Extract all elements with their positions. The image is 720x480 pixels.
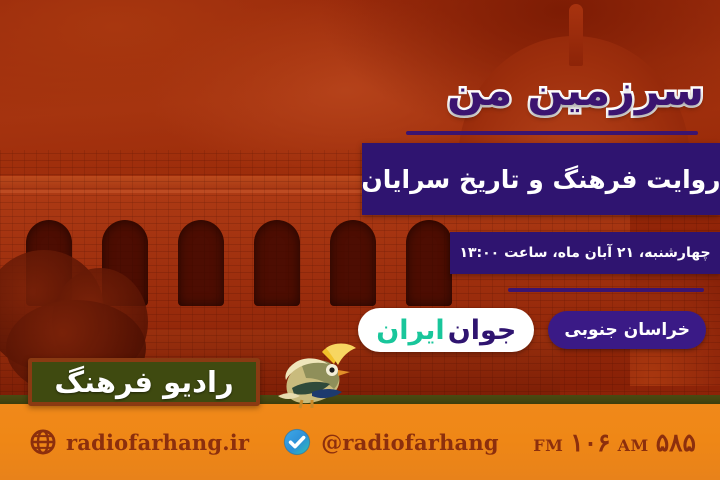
social-handle-label: @radiofarhang: [321, 430, 498, 455]
social-handle-link[interactable]: @radiofarhang: [283, 428, 498, 456]
title-underline-rule: [406, 131, 698, 135]
iran-javan-logo-part-iran: ایران: [376, 315, 445, 346]
subtitle-text: روایت فرهنگ و تاریخ سرایان: [361, 165, 720, 194]
minaret-shape: [569, 4, 583, 66]
iran-javan-logo-part-javan: جوان: [448, 315, 517, 346]
frequency-info: FM ۱۰۶ AM ۵۸۵: [533, 428, 696, 457]
website-label: radiofarhang.ir: [66, 430, 249, 455]
province-badge: خراسان جنوبی: [548, 311, 706, 349]
subtitle-band: روایت فرهنگ و تاریخ سرایان: [362, 143, 720, 215]
province-badge-label: خراسان جنوبی: [564, 320, 690, 340]
website-link[interactable]: radiofarhang.ir: [30, 429, 249, 455]
radio-farhang-logo-label: رادیو فرهنگ: [54, 365, 233, 399]
am-value: ۵۸۵: [656, 428, 696, 457]
iran-javan-logo: جوان ایران: [358, 308, 534, 352]
bird-icon: [272, 336, 364, 410]
airdate-text: چهارشنبه، ۲۱ آبان ماه، ساعت ۱۳:۰۰: [459, 245, 710, 261]
footer-bar: radiofarhang.ir @radiofar: [0, 404, 720, 480]
verified-check-icon: [283, 428, 311, 456]
promo-poster: سرزمین من روایت فرهنگ و تاریخ سرایان چها…: [0, 0, 720, 480]
radio-farhang-logo: رادیو فرهنگ: [28, 358, 260, 406]
fm-label: FM: [533, 436, 563, 455]
sponsor-logo-row: جوان ایران خراسان جنوبی: [358, 306, 706, 354]
program-title: سرزمین من: [447, 66, 704, 116]
airdate-underline-rule: [508, 288, 704, 292]
airdate-band: چهارشنبه، ۲۱ آبان ماه، ساعت ۱۳:۰۰: [450, 232, 720, 274]
fm-value: ۱۰۶: [570, 428, 610, 457]
globe-icon: [30, 429, 56, 455]
am-label: AM: [618, 436, 649, 455]
